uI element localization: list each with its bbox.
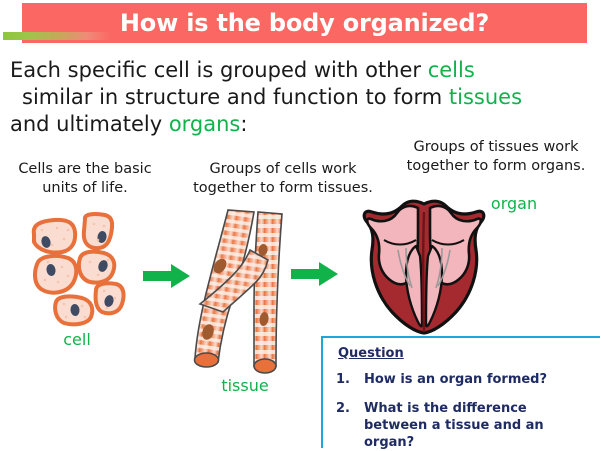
caption-organs: Groups of tissues work together to form … [392,138,600,176]
label-organ: organ [474,194,554,213]
muscle-tissue-illustration [192,206,294,382]
lead-line-1-text: Each specific cell is grouped with other [10,58,428,82]
label-tissue: tissue [200,376,290,395]
question-box: Question 1.How is an organ formed? 2.Wha… [321,336,600,448]
cells-cluster-illustration [12,212,140,334]
lead-line-1: Each specific cell is grouped with other… [10,57,594,84]
lead-line-3-text: and ultimately [10,112,169,136]
right-arrow-icon-cell-to-tissue [143,263,191,293]
caption-tissues: Groups of cells work together to form ti… [178,160,388,198]
lead-line-3-colon: : [240,112,247,136]
question-item-1-number: 1. [336,371,364,388]
question-item-1-text: How is an organ formed? [364,371,586,388]
question-item-2-text: What is the difference between a tissue … [364,400,586,451]
page-title: How is the body organized? [22,3,587,43]
question-item-1: 1.How is an organ formed? [336,371,594,388]
question-heading: Question [338,346,404,361]
question-item-2-number: 2. [336,400,364,417]
question-item-2: 2.What is the difference between a tissu… [336,400,594,451]
highlight-cells: cells [428,58,475,82]
lead-line-2: similar in structure and function to for… [10,84,594,111]
caption-cells: Cells are the basic units of life. [2,160,168,198]
lead-paragraph: Each specific cell is grouped with other… [10,57,594,138]
right-arrow-icon-tissue-to-organ [291,261,339,291]
highlight-organs: organs [169,112,241,136]
lead-line-2-text: similar in structure and function to for… [22,85,449,109]
label-cell: cell [42,330,112,349]
highlight-tissues: tissues [449,85,522,109]
heart-organ-illustration [354,196,494,342]
lead-line-3: and ultimately organs: [10,111,594,138]
